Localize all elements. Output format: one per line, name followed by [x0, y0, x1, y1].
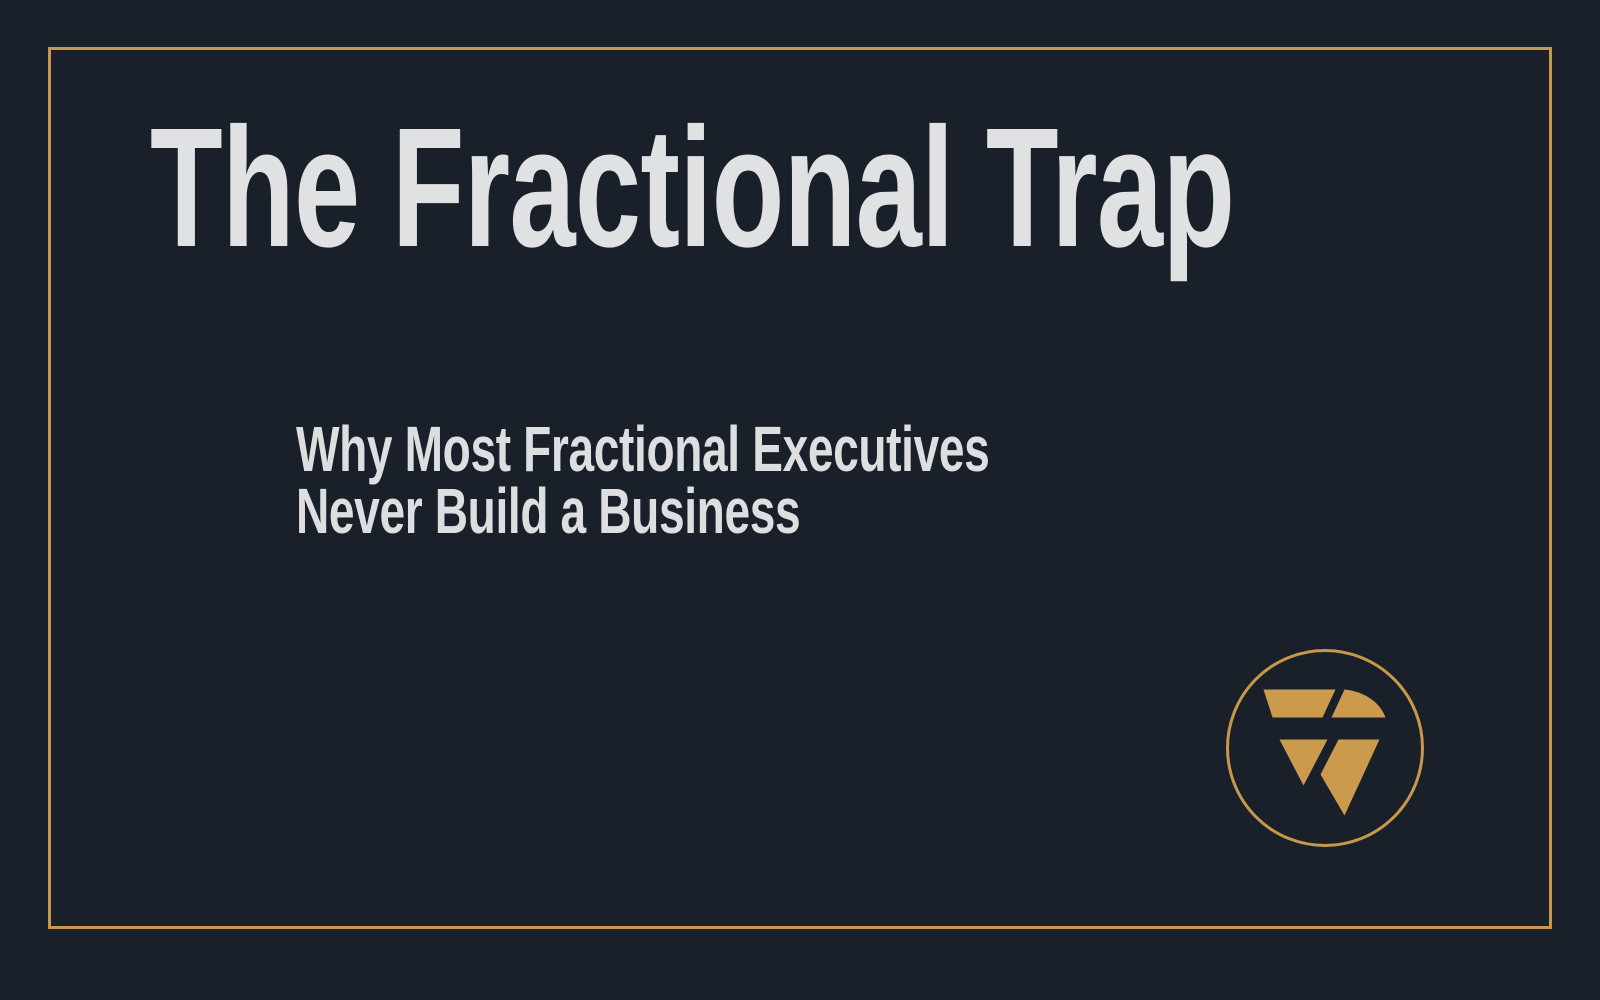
slide-content: The Fractional Trap Why Most Fractional … [0, 0, 1600, 1000]
title-slide: The Fractional Trap Why Most Fractional … [0, 0, 1600, 1000]
slide-subtitle: Why Most Fractional Executives Never Bui… [296, 418, 1232, 542]
brand-logo-icon [1225, 648, 1425, 848]
slide-title: The Fractional Trap [150, 103, 1060, 273]
subtitle-line-2: Never Build a Business [296, 480, 1232, 542]
subtitle-line-1: Why Most Fractional Executives [296, 418, 1232, 480]
